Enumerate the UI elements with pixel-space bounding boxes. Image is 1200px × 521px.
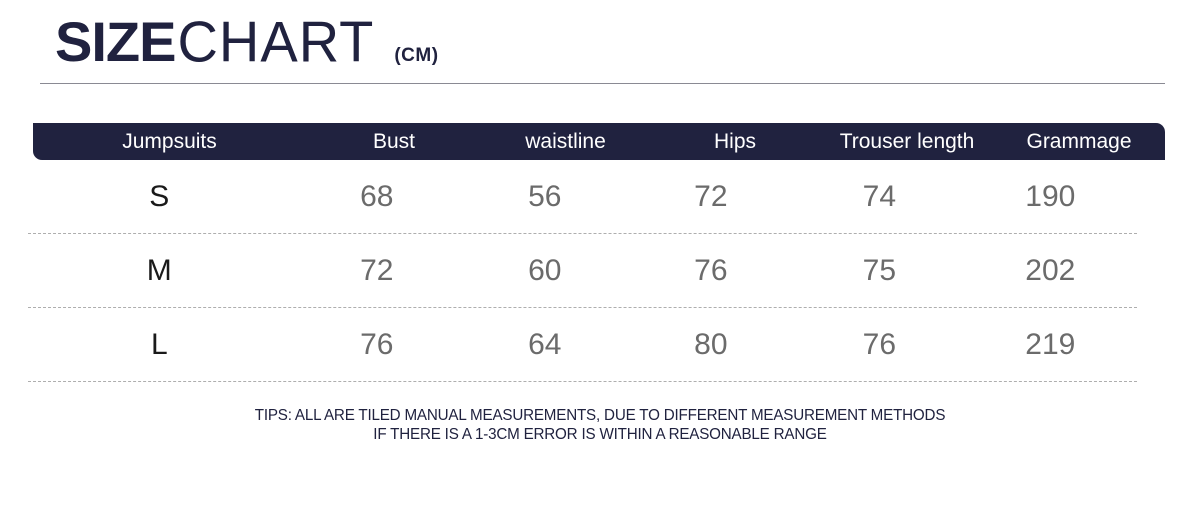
title-word-size: SIZE	[55, 14, 175, 70]
column-header-bust: Bust	[306, 131, 482, 152]
title-word-chart: CHART	[177, 13, 374, 70]
table-header-row: Jumpsuits Bust waistline Hips Trouser le…	[33, 123, 1165, 160]
tips-line-2: IF THERE IS A 1-3CM ERROR IS WITHIN A RE…	[12, 425, 1188, 444]
cell-hips: 80	[627, 330, 796, 360]
tips-note: TIPS: ALL ARE TILED MANUAL MEASUREMENTS,…	[0, 406, 1200, 444]
cell-waistline: 64	[463, 330, 627, 360]
cell-size: L	[28, 330, 291, 360]
table-row: S 68 56 72 74 190	[28, 160, 1137, 234]
cell-waistline: 56	[463, 182, 627, 212]
size-chart-page: SIZE CHART (CM) Jumpsuits Bust waistline…	[0, 0, 1200, 521]
cell-bust: 72	[291, 256, 463, 286]
table-row: M 72 60 76 75 202	[28, 234, 1137, 308]
column-header-hips: Hips	[649, 131, 821, 152]
cell-size: S	[28, 182, 291, 212]
column-header-waistline: waistline	[482, 131, 649, 152]
cell-trouser-length: 76	[795, 330, 964, 360]
column-header-jumpsuits: Jumpsuits	[33, 131, 306, 152]
cell-waistline: 60	[463, 256, 627, 286]
tips-line-1: TIPS: ALL ARE TILED MANUAL MEASUREMENTS,…	[12, 406, 1188, 425]
cell-grammage: 219	[964, 330, 1137, 360]
cell-grammage: 202	[964, 256, 1137, 286]
size-table: Jumpsuits Bust waistline Hips Trouser le…	[0, 123, 1200, 382]
title-divider	[40, 83, 1165, 84]
table-row: L 76 64 80 76 219	[28, 308, 1137, 382]
column-header-grammage: Grammage	[993, 131, 1165, 152]
cell-grammage: 190	[964, 182, 1137, 212]
cell-size: M	[28, 256, 291, 286]
title-unit-cm: (CM)	[394, 46, 438, 65]
cell-hips: 76	[627, 256, 796, 286]
page-title: SIZE CHART (CM)	[55, 14, 439, 76]
cell-hips: 72	[627, 182, 796, 212]
cell-bust: 68	[291, 182, 463, 212]
cell-trouser-length: 75	[795, 256, 964, 286]
column-header-trouser-length: Trouser length	[821, 131, 993, 152]
cell-bust: 76	[291, 330, 463, 360]
cell-trouser-length: 74	[795, 182, 964, 212]
